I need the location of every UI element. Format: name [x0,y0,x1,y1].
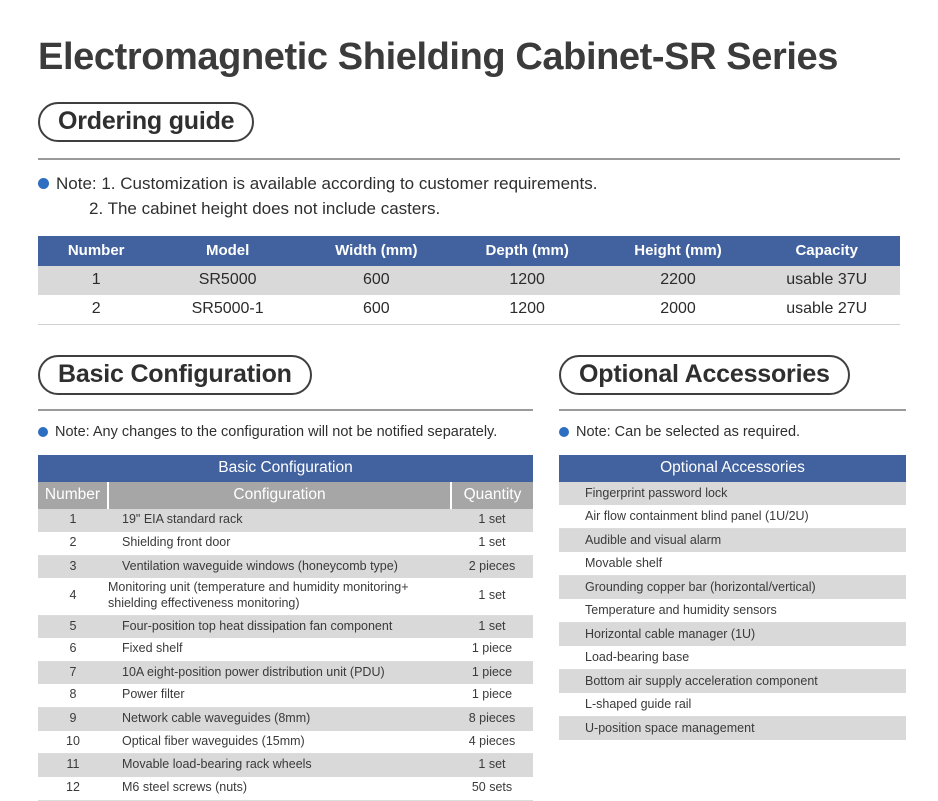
spec-cell-width: 600 [301,295,452,325]
optional-cell-item: Load-bearing base [559,646,906,670]
basic-cell-quantity: 4 pieces [451,731,533,754]
basic-cell-config: Four-position top heat dissipation fan c… [108,615,451,638]
spec-cell-width: 600 [301,266,452,295]
optional-cell-item: Horizontal cable manager (1U) [559,623,906,647]
spec-col-height: Height (mm) [603,236,754,266]
basic-cell-number: 1 [38,509,108,532]
basic-cell-quantity: 1 piece [451,661,533,684]
spec-cell-height: 2200 [603,266,754,295]
ordering-guide-section-header: Ordering guide [38,102,900,143]
table-row: 1 19" EIA standard rack 1 set [38,509,533,532]
basic-table-header-row: Number Configuration Quantity [38,482,533,509]
table-row: 4 Monitoring unit (temperature and humid… [38,578,533,615]
ordering-guide-divider [38,158,900,160]
list-item: Fingerprint password lock [559,482,906,505]
spec-col-width: Width (mm) [301,236,452,266]
basic-cell-config: 10A eight-position power distribution un… [108,661,451,684]
basic-table-title: Basic Configuration [38,455,533,482]
list-item: L-shaped guide rail [559,693,906,717]
list-item: U-position space management [559,717,906,741]
list-item: Air flow containment blind panel (1U/2U) [559,505,906,529]
spec-cell-model: SR5000 [154,266,301,295]
optional-cell-item: Fingerprint password lock [559,482,906,505]
optional-cell-item: Movable shelf [559,552,906,576]
basic-col-number: Number [38,482,108,509]
list-item: Horizontal cable manager (1U) [559,623,906,647]
basic-cell-quantity: 1 piece [451,638,533,661]
basic-cell-quantity: 2 pieces [451,555,533,578]
specification-table: Number Model Width (mm) Depth (mm) Heigh… [38,236,900,325]
basic-configuration-section: Basic Configuration Note: Any changes to… [38,355,533,801]
ordering-guide-note-text: Note: 1. Customization is available acco… [56,172,597,221]
spec-col-depth: Depth (mm) [452,236,603,266]
basic-table-title-row: Basic Configuration [38,455,533,482]
table-row: 11 Movable load-bearing rack wheels 1 se… [38,754,533,777]
table-row: 3 Ventilation waveguide windows (honeyco… [38,555,533,578]
basic-cell-number: 9 [38,708,108,731]
list-item: Movable shelf [559,552,906,576]
datasheet-page: Electromagnetic Shielding Cabinet-SR Ser… [0,0,938,767]
spec-cell-depth: 1200 [452,295,603,325]
page-title: Electromagnetic Shielding Cabinet-SR Ser… [38,0,900,80]
basic-cell-number: 4 [38,578,108,615]
basic-cell-quantity: 1 set [451,615,533,638]
basic-cell-number: 2 [38,532,108,555]
spec-cell-model: SR5000-1 [154,295,301,325]
list-item: Grounding copper bar (horizontal/vertica… [559,576,906,600]
table-row: 10 Optical fiber waveguides (15mm) 4 pie… [38,731,533,754]
basic-cell-number: 3 [38,555,108,578]
basic-cell-number: 10 [38,731,108,754]
ordering-note-line-2: 2. The cabinet height does not include c… [56,197,597,222]
basic-cell-number: 8 [38,684,108,707]
basic-cell-config: Optical fiber waveguides (15mm) [108,731,451,754]
optional-accessories-table: Optional Accessories Fingerprint passwor… [559,455,906,740]
basic-cell-number: 5 [38,615,108,638]
table-row: 6 Fixed shelf 1 piece [38,638,533,661]
basic-configuration-note-text: Note: Any changes to the configuration w… [55,422,497,443]
list-item: Load-bearing base [559,646,906,670]
spec-cell-height: 2000 [603,295,754,325]
table-row: 5 Four-position top heat dissipation fan… [38,615,533,638]
basic-cell-quantity: 50 sets [451,777,533,800]
basic-cell-config: Network cable waveguides (8mm) [108,708,451,731]
optional-cell-item: Grounding copper bar (horizontal/vertica… [559,576,906,600]
spec-cell-number: 2 [38,295,154,325]
bullet-icon [38,427,48,437]
optional-accessories-section-header: Optional Accessories [559,355,906,396]
basic-col-config: Configuration [108,482,451,509]
basic-cell-quantity: 1 set [451,509,533,532]
optional-cell-item: U-position space management [559,717,906,741]
spec-col-number: Number [38,236,154,266]
basic-cell-number: 7 [38,661,108,684]
optional-cell-item: Temperature and humidity sensors [559,599,906,623]
optional-cell-item: L-shaped guide rail [559,693,906,717]
optional-accessories-note: Note: Can be selected as required. [559,422,906,443]
lower-sections: Basic Configuration Note: Any changes to… [38,355,900,801]
basic-cell-quantity: 1 piece [451,684,533,707]
ordering-guide-note: Note: 1. Customization is available acco… [38,172,900,221]
table-row: 1 SR5000 600 1200 2200 usable 37U [38,266,900,295]
list-item: Temperature and humidity sensors [559,599,906,623]
basic-cell-config: Movable load-bearing rack wheels [108,754,451,777]
optional-table-title: Optional Accessories [559,455,906,482]
optional-accessories-note-text: Note: Can be selected as required. [576,422,800,443]
table-row: 2 SR5000-1 600 1200 2000 usable 27U [38,295,900,325]
basic-cell-quantity: 1 set [451,532,533,555]
table-row: 7 10A eight-position power distribution … [38,661,533,684]
list-item: Bottom air supply acceleration component [559,670,906,694]
spec-cell-capacity: usable 27U [753,295,900,325]
basic-col-quantity: Quantity [451,482,533,509]
ordering-guide-pill-label: Ordering guide [38,102,254,143]
optional-cell-item: Audible and visual alarm [559,529,906,553]
table-row: 8 Power filter 1 piece [38,684,533,707]
basic-cell-quantity: 8 pieces [451,708,533,731]
spec-col-model: Model [154,236,301,266]
basic-cell-config: Monitoring unit (temperature and humidit… [108,578,451,615]
basic-cell-config: Power filter [108,684,451,707]
optional-accessories-pill-label: Optional Accessories [559,355,850,396]
basic-configuration-section-header: Basic Configuration [38,355,533,396]
optional-accessories-section: Optional Accessories Note: Can be select… [559,355,906,801]
basic-configuration-pill-label: Basic Configuration [38,355,312,396]
list-item: Audible and visual alarm [559,529,906,553]
basic-configuration-note: Note: Any changes to the configuration w… [38,422,533,443]
spec-cell-capacity: usable 37U [753,266,900,295]
basic-cell-quantity: 1 set [451,578,533,615]
ordering-note-line-1: Note: 1. Customization is available acco… [56,174,597,193]
table-row: 12 M6 steel screws (nuts) 50 sets [38,777,533,800]
bullet-icon [559,427,569,437]
basic-cell-config: Ventilation waveguide windows (honeycomb… [108,555,451,578]
basic-cell-config: 19" EIA standard rack [108,509,451,532]
basic-cell-number: 12 [38,777,108,800]
spec-col-capacity: Capacity [753,236,900,266]
bullet-icon [38,178,49,189]
spec-cell-depth: 1200 [452,266,603,295]
optional-table-title-row: Optional Accessories [559,455,906,482]
basic-cell-number: 6 [38,638,108,661]
optional-cell-item: Air flow containment blind panel (1U/2U) [559,505,906,529]
basic-cell-number: 11 [38,754,108,777]
basic-cell-config: M6 steel screws (nuts) [108,777,451,800]
basic-cell-config: Fixed shelf [108,638,451,661]
optional-cell-item: Bottom air supply acceleration component [559,670,906,694]
basic-cell-quantity: 1 set [451,754,533,777]
specification-table-header-row: Number Model Width (mm) Depth (mm) Heigh… [38,236,900,266]
table-row: 9 Network cable waveguides (8mm) 8 piece… [38,708,533,731]
basic-configuration-table: Basic Configuration Number Configuration… [38,455,533,800]
table-row: 2 Shielding front door 1 set [38,532,533,555]
basic-cell-config: Shielding front door [108,532,451,555]
spec-cell-number: 1 [38,266,154,295]
basic-configuration-divider [38,409,533,411]
optional-accessories-divider [559,409,906,411]
